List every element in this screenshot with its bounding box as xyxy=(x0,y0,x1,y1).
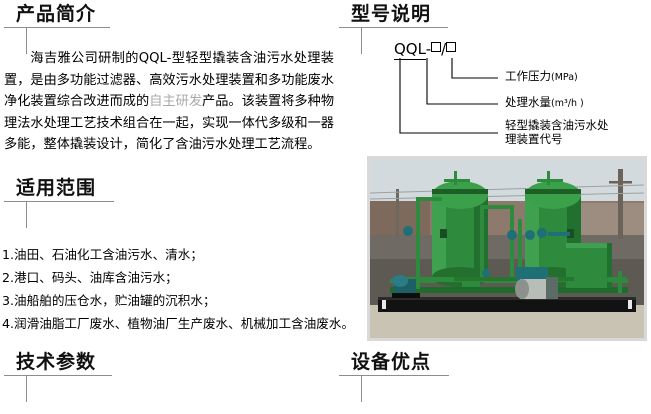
list-item-number: 2. xyxy=(2,270,14,285)
section-heading-intro: 产品简介 xyxy=(4,2,110,54)
model-unit-capacity: (m³/h ) xyxy=(551,98,584,109)
model-label-device-code: 轻型撬装含油污水处 理装置代号 xyxy=(505,119,609,146)
intro-text-highlight: 自主研发 xyxy=(149,94,202,109)
list-item-number: 3. xyxy=(2,293,14,308)
model-label-pressure-text: 工作压力 xyxy=(505,69,551,83)
model-label-device-code-line2: 理装置代号 xyxy=(505,133,609,147)
section-heading-model-label: 型号说明 xyxy=(339,2,448,26)
list-item-text: 油田、石油化工含油污水、清水； xyxy=(14,247,203,262)
model-unit-pressure: (MPa) xyxy=(551,72,578,83)
section-heading-specs: 技术参数 xyxy=(4,350,112,402)
list-item: 2.港口、码头、油库含油污水； xyxy=(2,266,352,289)
section-heading-scope: 适用范围 xyxy=(4,176,114,228)
list-item: 1.油田、石油化工含油污水、清水； xyxy=(2,243,352,266)
section-heading-intro-label: 产品简介 xyxy=(4,2,110,26)
heading-tick xyxy=(26,202,27,228)
heading-tick xyxy=(361,376,362,402)
heading-tick xyxy=(361,28,362,54)
section-heading-specs-label: 技术参数 xyxy=(4,350,112,374)
heading-rule xyxy=(339,27,448,28)
list-item-text: 港口、码头、油库含油污水； xyxy=(14,270,178,285)
list-item: 3.油船舶的压仓水，贮油罐的沉积水； xyxy=(2,289,352,312)
model-label-pressure: 工作压力(MPa) xyxy=(505,70,578,85)
list-item-number: 1. xyxy=(2,247,14,262)
list-item: 4.润滑油脂工厂废水、植物油厂生产废水、机械加工含油废水。 xyxy=(2,312,352,335)
equipment-photo-image xyxy=(370,159,644,338)
model-label-device-code-line1: 轻型撬装含油污水处 xyxy=(505,119,609,133)
equipment-photo xyxy=(367,156,647,341)
section-heading-advantages: 设备优点 xyxy=(339,350,449,402)
heading-rule xyxy=(4,201,114,202)
list-item-text: 油船舶的压仓水，贮油罐的沉积水； xyxy=(14,293,216,308)
section-heading-advantages-label: 设备优点 xyxy=(339,350,449,374)
list-item-number: 4. xyxy=(2,316,14,331)
intro-paragraph: 海吉雅公司研制的QQL-型轻型撬装含油污水处理装置，是由多功能过滤器、高效污水处… xyxy=(4,48,334,156)
model-label-capacity: 处理水量(m³/h ) xyxy=(505,96,584,111)
list-item-text: 润滑油脂工厂废水、植物油厂生产废水、机械加工含油废水。 xyxy=(14,316,354,331)
scope-list: 1.油田、石油化工含油污水、清水； 2.港口、码头、油库含油污水； 3.油船舶的… xyxy=(2,243,352,335)
heading-rule xyxy=(339,375,449,376)
brochure-page: 产品简介 海吉雅公司研制的QQL-型轻型撬装含油污水处理装置，是由多功能过滤器、… xyxy=(0,0,651,414)
heading-rule xyxy=(4,27,110,28)
section-heading-scope-label: 适用范围 xyxy=(4,176,114,200)
heading-tick xyxy=(26,376,27,402)
model-label-capacity-text: 处理水量 xyxy=(505,95,551,109)
model-number-diagram: QQL-/ 工作压力(MPa) 处理水量(m³/h ) 轻型撬装含油污水处 理装… xyxy=(380,38,651,148)
heading-rule xyxy=(4,375,112,376)
